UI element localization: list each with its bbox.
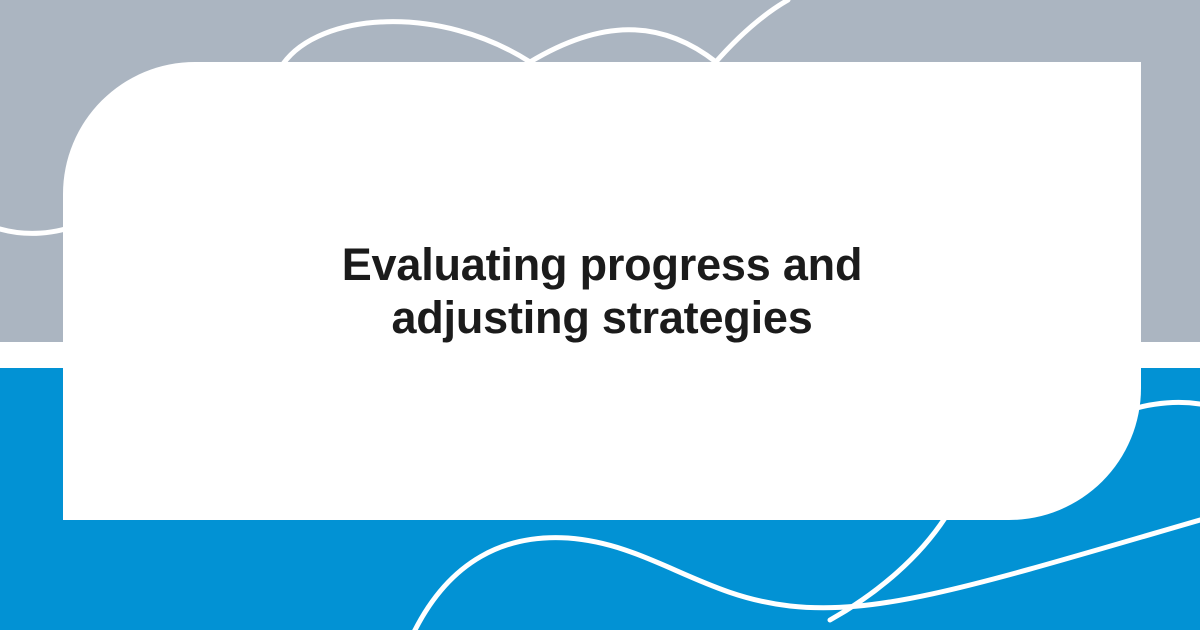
content-card: Evaluating progress and adjusting strate…	[63, 62, 1141, 520]
page-title: Evaluating progress and adjusting strate…	[322, 238, 882, 344]
social-card-canvas: Evaluating progress and adjusting strate…	[0, 0, 1200, 630]
title-block: Evaluating progress and adjusting strate…	[183, 238, 1021, 344]
